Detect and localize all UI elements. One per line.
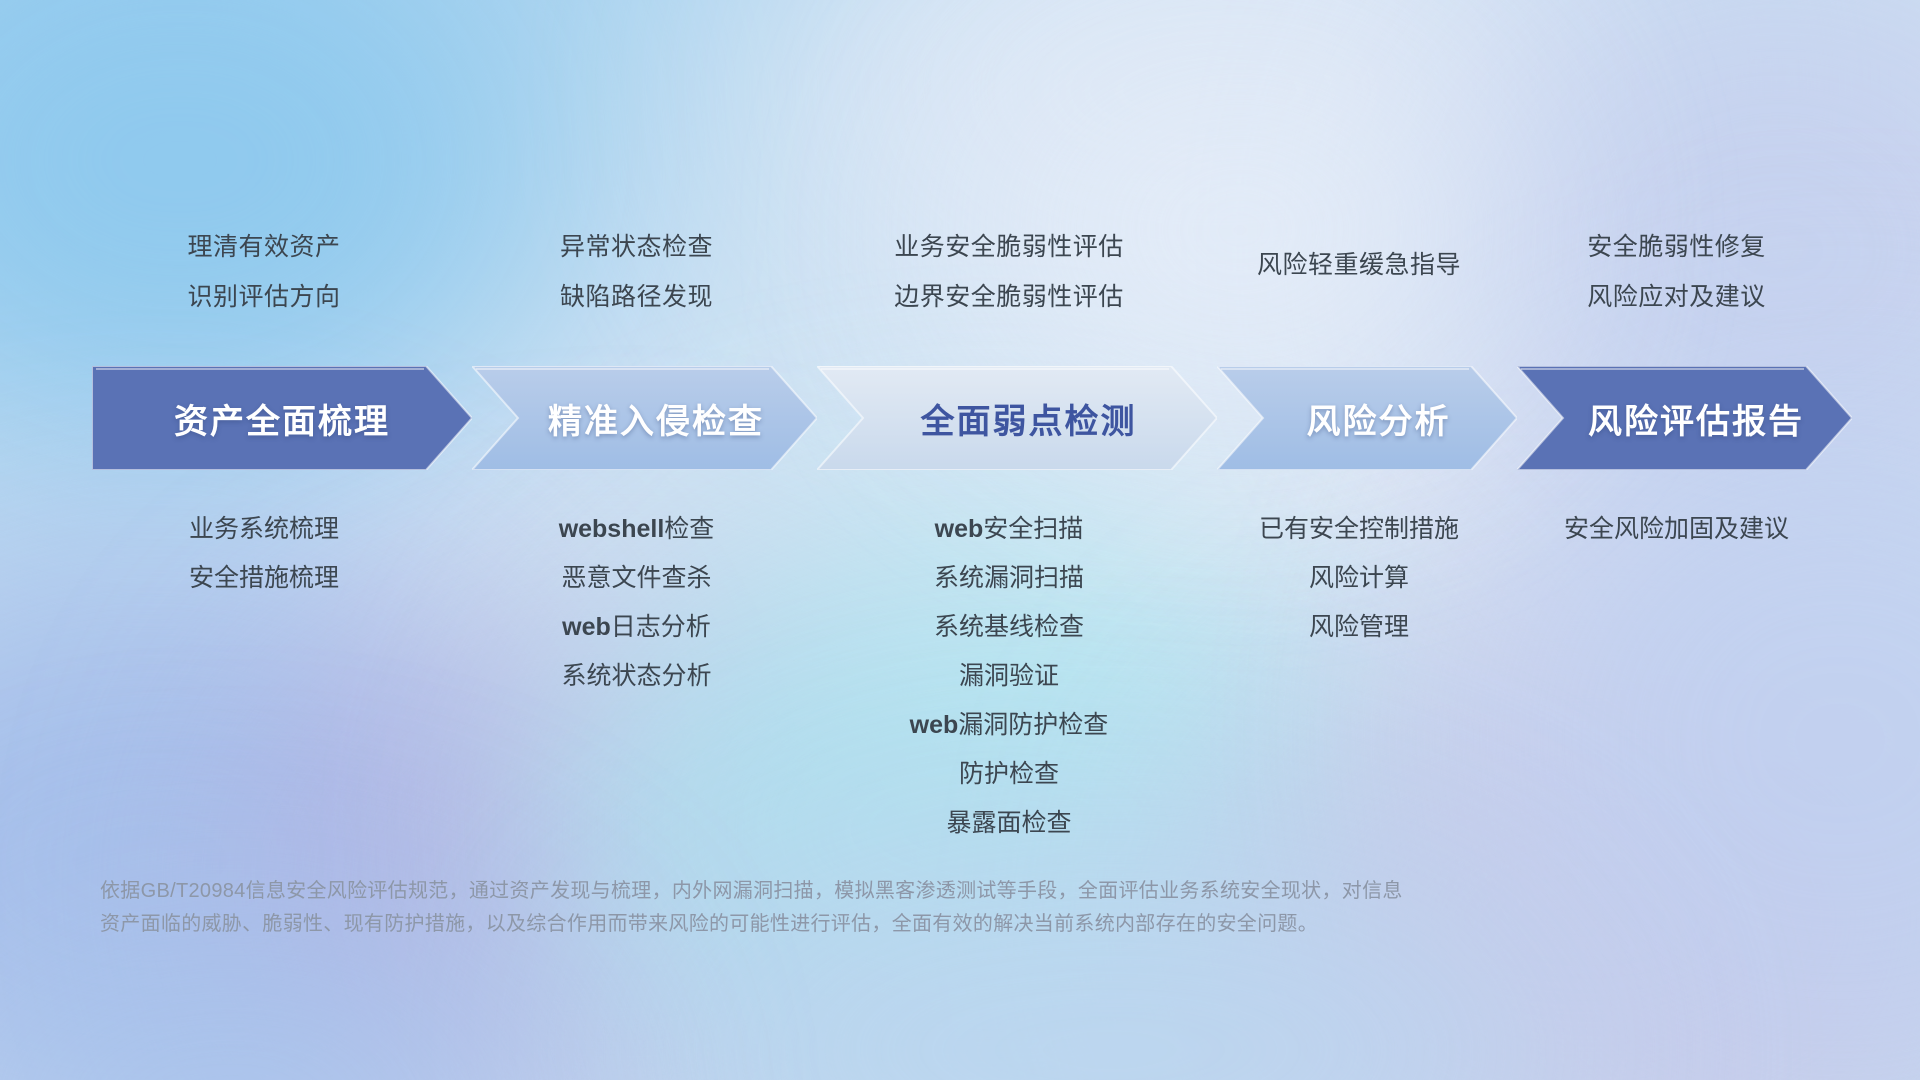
detail-item-text: 检查 xyxy=(664,515,714,543)
stage-title: 全面弱点检测 xyxy=(921,394,1137,443)
footer-line-2: 资产面临的威胁、脆弱性、现有防护措施，以及综合作用而带来风险的可能性进行评估，全… xyxy=(100,908,1740,941)
detail-item-text: 安全措施梳理 xyxy=(189,564,339,592)
detail-item-text: 已有安全控制措施 xyxy=(1259,515,1459,543)
detail-item: 风险管理 xyxy=(1129,603,1589,652)
detail-item-text: 风险计算 xyxy=(1309,564,1409,592)
process-stage-5[interactable]: 风险评估报告 xyxy=(1517,366,1852,470)
detail-item-text: 系统基线检查 xyxy=(934,613,1084,641)
stage-title: 精准入侵检查 xyxy=(548,394,764,443)
process-stage-3[interactable]: 全面弱点检测 xyxy=(817,366,1217,470)
process-chevron-band: 资产全面梳理精准入侵检查全面弱点检测风险分析风险评估报告 xyxy=(92,366,1852,470)
infographic-canvas: 理清有效资产识别评估方向异常状态检查缺陷路径发现业务安全脆弱性评估边界安全脆弱性… xyxy=(0,0,1920,1080)
stage-5-caption-group: 安全脆弱性修复风险应对及建议 xyxy=(1457,222,1897,322)
stage-title: 风险评估报告 xyxy=(1588,394,1804,443)
detail-item: web漏洞防护检查 xyxy=(779,701,1239,750)
footer-line-1: 依据GB/T20984信息安全风险评估规范，通过资产发现与梳理，内外网漏洞扫描，… xyxy=(100,875,1740,908)
process-stage-4[interactable]: 风险分析 xyxy=(1217,366,1517,470)
detail-item: 防护检查 xyxy=(779,750,1239,799)
stage-title: 风险分析 xyxy=(1307,394,1451,443)
detail-item-text: 漏洞防护检查 xyxy=(958,711,1108,739)
detail-item-text: 日志分析 xyxy=(611,613,711,641)
detail-item-latin: web xyxy=(562,613,611,641)
stage-captions-above: 理清有效资产识别评估方向异常状态检查缺陷路径发现业务安全脆弱性评估边界安全脆弱性… xyxy=(0,222,1920,332)
detail-item-text: 安全扫描 xyxy=(983,515,1083,543)
detail-item-text: 业务系统梳理 xyxy=(189,515,339,543)
detail-item: 风险计算 xyxy=(1129,554,1589,603)
detail-item-text: 系统漏洞扫描 xyxy=(934,564,1084,592)
detail-item-text: 漏洞验证 xyxy=(959,662,1059,690)
detail-item-text: 防护检查 xyxy=(959,760,1059,788)
stage-5-detail-group: 安全风险加固及建议 xyxy=(1447,505,1907,554)
detail-item-text: 暴露面检查 xyxy=(946,809,1071,837)
detail-item: 暴露面检查 xyxy=(779,799,1239,848)
process-stage-1[interactable]: 资产全面梳理 xyxy=(92,366,472,470)
detail-item-text: 安全风险加固及建议 xyxy=(1564,515,1789,543)
detail-item-latin: webshell xyxy=(559,515,665,543)
stage-title: 资产全面梳理 xyxy=(174,394,390,443)
detail-item-latin: web xyxy=(935,515,984,543)
process-stage-2[interactable]: 精准入侵检查 xyxy=(472,366,817,470)
footer-description: 依据GB/T20984信息安全风险评估规范，通过资产发现与梳理，内外网漏洞扫描，… xyxy=(100,875,1740,941)
caption-item: 风险应对及建议 xyxy=(1457,272,1897,322)
detail-item-text: 系统状态分析 xyxy=(561,662,711,690)
detail-item-text: 风险管理 xyxy=(1309,613,1409,641)
detail-item-text: 恶意文件查杀 xyxy=(561,564,711,592)
detail-item: 安全风险加固及建议 xyxy=(1447,505,1907,554)
detail-item: 漏洞验证 xyxy=(779,652,1239,701)
caption-item: 安全脆弱性修复 xyxy=(1457,222,1897,272)
detail-item-latin: web xyxy=(910,711,959,739)
